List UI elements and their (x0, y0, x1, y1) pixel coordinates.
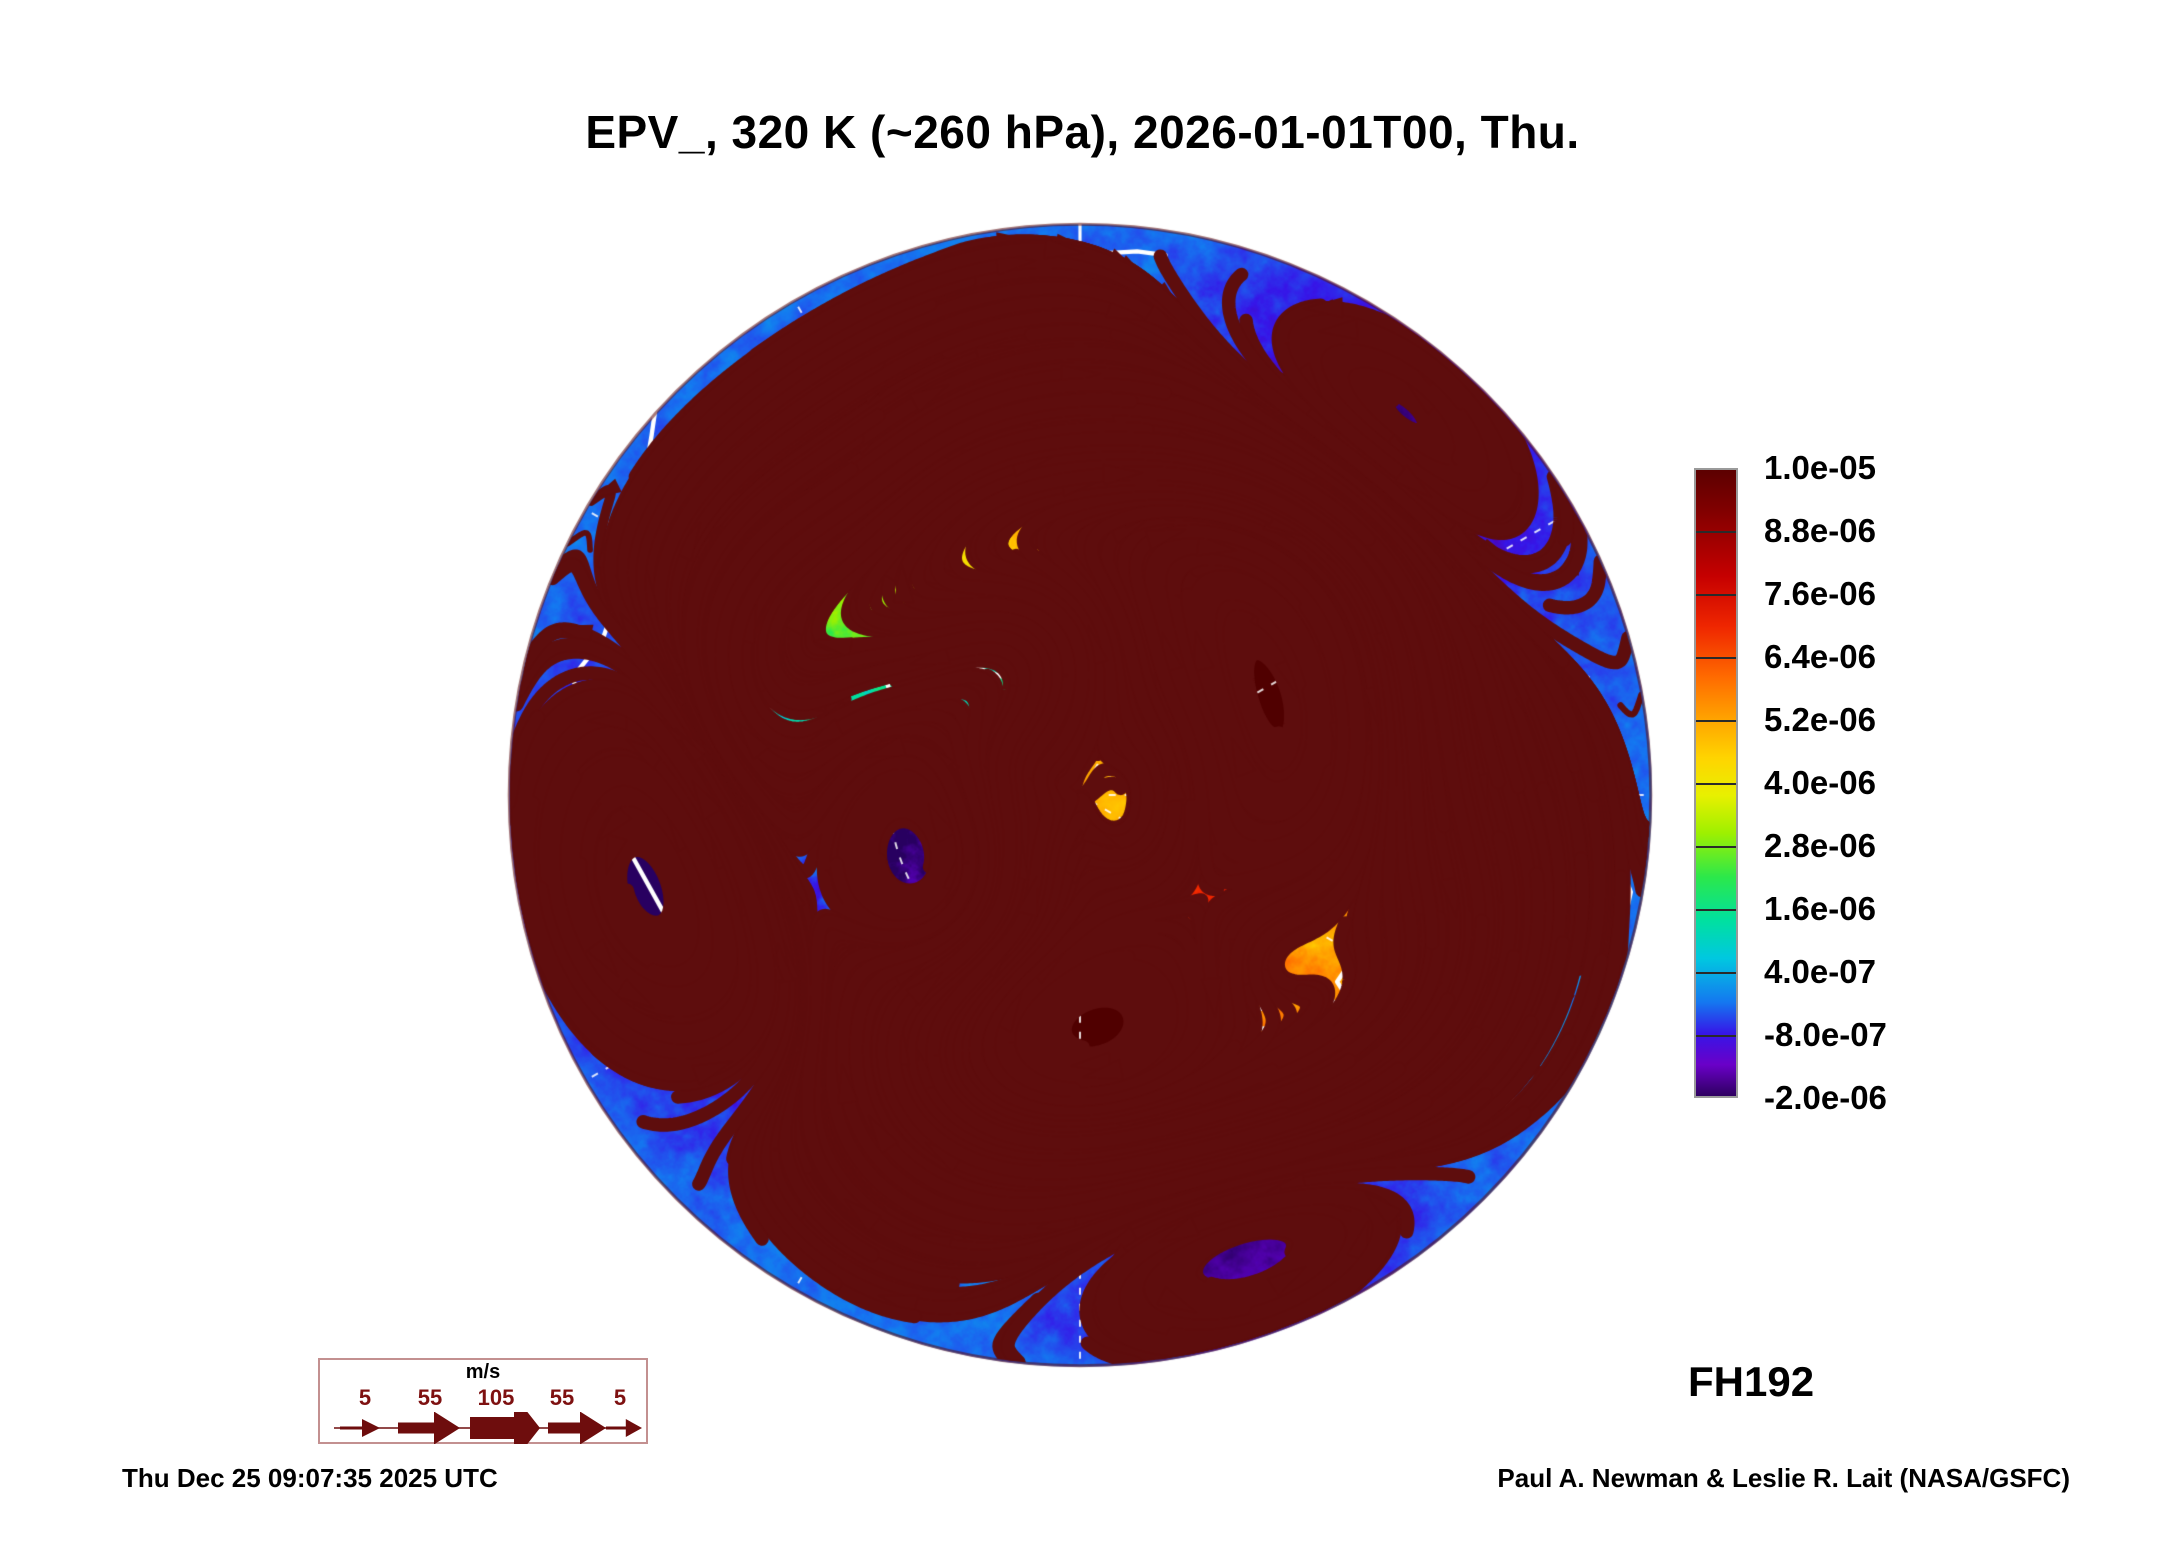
colorbar-tick (1696, 1035, 1736, 1037)
colorbar-tick-label: 7.6e-06 (1764, 575, 1876, 613)
colorbar-tick (1696, 531, 1736, 533)
wind-legend-value: 5 (614, 1385, 626, 1411)
wind-arrow-scale-icon (320, 1412, 646, 1444)
colorbar-tick-label: 8.8e-06 (1764, 512, 1876, 550)
wind-arrow-icon (470, 1412, 540, 1444)
colorbar: 1.0e-058.8e-067.6e-066.4e-065.2e-064.0e-… (1694, 468, 2114, 1098)
wind-arrow-icon (548, 1412, 606, 1444)
polar-map-container (500, 215, 1660, 1375)
colorbar-tick-label: 4.0e-06 (1764, 764, 1876, 802)
wind-legend-value: 5 (359, 1385, 371, 1411)
colorbar-tick-label: 4.0e-07 (1764, 953, 1876, 991)
epv-polar-heatmap (500, 215, 1660, 1375)
colorbar-tick (1696, 720, 1736, 722)
colorbar-tick (1696, 783, 1736, 785)
wind-arrow-icon (340, 1419, 380, 1437)
wind-legend-value: 105 (478, 1385, 515, 1411)
colorbar-tick (1696, 846, 1736, 848)
colorbar-tick-label: 1.0e-05 (1764, 449, 1876, 487)
generation-timestamp: Thu Dec 25 09:07:35 2025 UTC (122, 1463, 498, 1494)
wind-speed-legend: m/s 555105555 (318, 1358, 648, 1444)
page-title: EPV_, 320 K (~260 hPa), 2026-01-01T00, T… (0, 105, 2165, 159)
forecast-hour-label: FH192 (1688, 1358, 1814, 1406)
colorbar-tick-label: 5.2e-06 (1764, 701, 1876, 739)
author-credit: Paul A. Newman & Leslie R. Lait (NASA/GS… (1497, 1463, 2070, 1494)
wind-legend-value: 55 (550, 1385, 574, 1411)
wind-legend-unit: m/s (320, 1361, 646, 1384)
colorbar-tick-label: -2.0e-06 (1764, 1079, 1887, 1117)
colorbar-tick-label: 2.8e-06 (1764, 827, 1876, 865)
colorbar-tick (1696, 972, 1736, 974)
colorbar-tick-label: -8.0e-07 (1764, 1016, 1887, 1054)
wind-arrow-icon (398, 1412, 460, 1444)
colorbar-tick-label: 1.6e-06 (1764, 890, 1876, 928)
colorbar-tick (1696, 594, 1736, 596)
colorbar-tick (1696, 909, 1736, 911)
wind-legend-value: 55 (418, 1385, 442, 1411)
wind-arrow-icon (606, 1419, 642, 1437)
colorbar-tick (1696, 657, 1736, 659)
colorbar-tick-label: 6.4e-06 (1764, 638, 1876, 676)
